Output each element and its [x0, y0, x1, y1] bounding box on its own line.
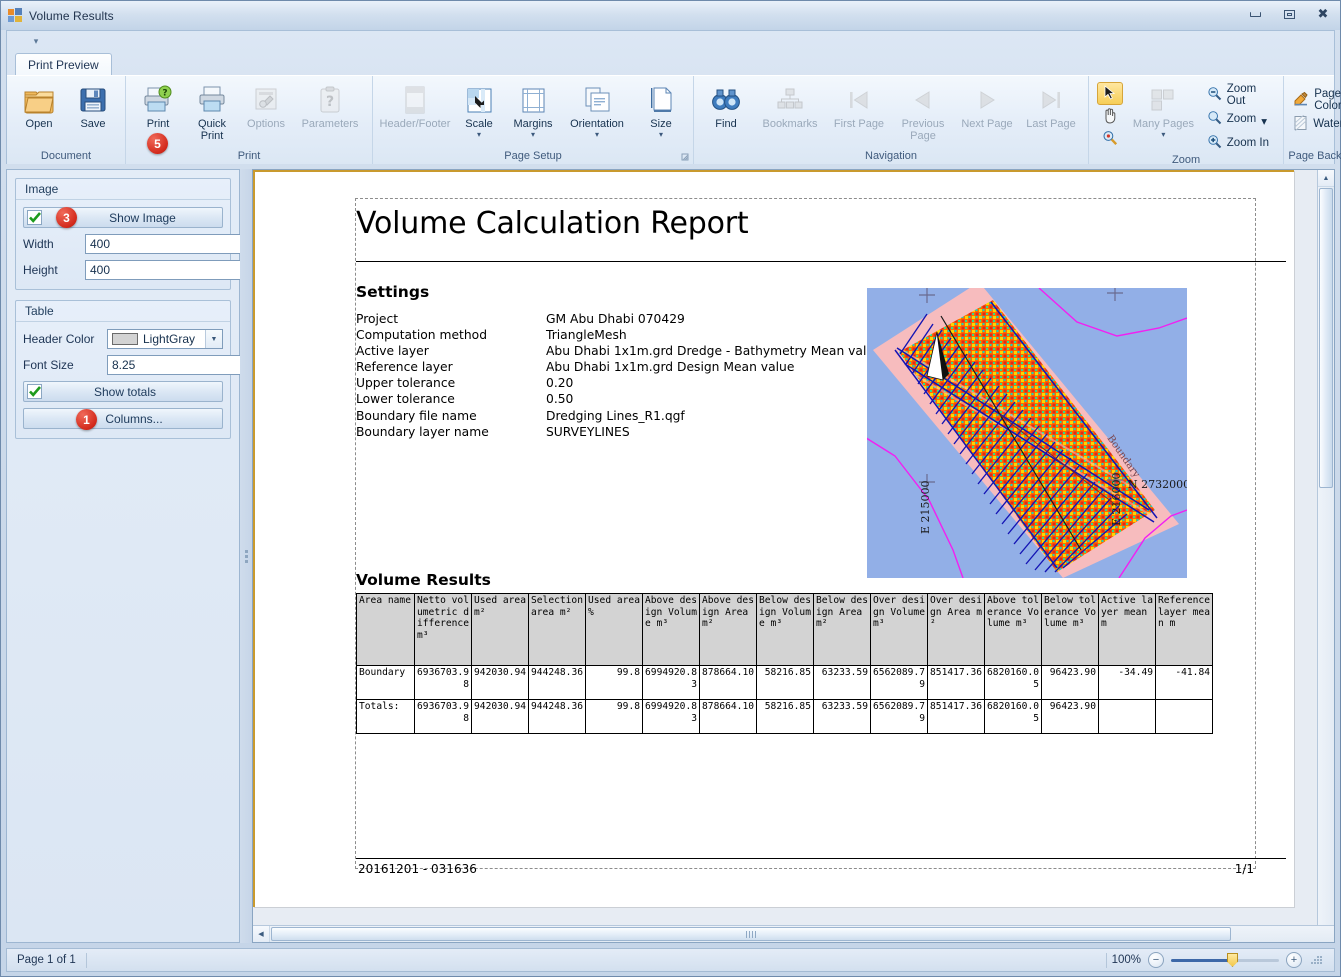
orientation-icon — [583, 83, 612, 117]
pointer-tool-button[interactable] — [1097, 82, 1123, 105]
column-header: Selection area m² — [529, 594, 586, 666]
value-cell: 6820160.05 — [985, 666, 1042, 700]
zoom-out-button[interactable]: − — [1148, 952, 1164, 968]
ribbon: ▾ Print Preview — [6, 30, 1335, 164]
settings-sidebar: Image 3 Show Image Width ▲▼ — [6, 169, 240, 943]
settings-row: Reference layerAbu Dhabi 1x1m.grd Design… — [356, 360, 882, 376]
value-cell — [1156, 700, 1213, 734]
value-cell: -34.49 — [1099, 666, 1156, 700]
image-group-title: Image — [16, 179, 230, 200]
resize-grip-icon[interactable] — [1309, 953, 1323, 967]
parameters-label: Parameters — [302, 118, 359, 130]
options-button: Options — [240, 81, 292, 130]
ribbon-tabstrip: Print Preview — [7, 52, 1334, 75]
zoom-out-button[interactable]: Zoom Out — [1204, 84, 1277, 106]
find-button[interactable]: Find — [700, 81, 752, 130]
save-button[interactable]: Save — [67, 81, 119, 130]
checkbox-checked-icon — [27, 384, 42, 399]
orientation-label: Orientation — [570, 118, 624, 130]
margins-icon — [520, 83, 547, 117]
group-title-page-background: Page Background — [1284, 147, 1341, 164]
image-width-field[interactable]: ▲▼ — [85, 234, 266, 254]
map-label-n2732000: N 2732000 — [1128, 478, 1187, 491]
column-header: Below tolerance Volume m³ — [1042, 594, 1099, 666]
column-header: Used area % — [586, 594, 643, 666]
zoom-icon — [1207, 110, 1222, 128]
value-cell: 942030.94 — [472, 666, 529, 700]
open-button[interactable]: Open — [13, 81, 65, 130]
column-header: Below design Area m² — [814, 594, 871, 666]
font-size-row: Font Size ▲▼ — [23, 355, 223, 375]
thumb-grip-icon — [746, 931, 756, 938]
settings-value: 0.20 — [546, 376, 882, 392]
settings-key: Project — [356, 312, 546, 328]
value-cell: 6994920.83 — [643, 700, 700, 734]
horizontal-scroll-thumb[interactable] — [271, 927, 1231, 941]
value-cell: 6820160.05 — [985, 700, 1042, 734]
settings-row: Boundary file nameDredging Lines_R1.qgf — [356, 409, 882, 425]
value-cell: 851417.36 — [928, 700, 985, 734]
first-page-button: First Page — [828, 81, 890, 130]
previous-page-label: Previous Page — [895, 118, 951, 142]
settings-value: SURVEYLINES — [546, 425, 882, 441]
table-groupbox: Table Header Color LightGray ▼ Font Size — [15, 300, 231, 439]
value-cell: 851417.36 — [928, 666, 985, 700]
column-header: Used area m² — [472, 594, 529, 666]
ribbon-group-page-setup: Header/Footer — [373, 76, 694, 164]
column-header: Active layer mean m — [1099, 594, 1156, 666]
quick-access-dropdown-icon[interactable]: ▾ — [29, 35, 43, 49]
options-wrench-icon — [252, 83, 280, 117]
next-page-button: Next Page — [956, 81, 1018, 130]
show-image-label: Show Image — [77, 211, 222, 225]
maximize-button[interactable] — [1276, 5, 1302, 24]
value-cell: 944248.36 — [529, 666, 586, 700]
image-groupbox: Image 3 Show Image Width ▲▼ — [15, 178, 231, 290]
volume-results-table: Area name Netto volumetric difference m³… — [356, 593, 1213, 734]
image-width-row: Width ▲▼ — [23, 234, 223, 254]
scale-label: Scale — [465, 118, 493, 130]
group-title-navigation: Navigation — [694, 147, 1088, 164]
survey-coverage-map: E 215000 E 216000 N 2732000 Boundary — [867, 288, 1187, 578]
svg-text:?: ? — [162, 88, 167, 98]
settings-key: Reference layer — [356, 360, 546, 376]
page-color-button[interactable]: Page Color ▾ — [1290, 89, 1341, 111]
svg-text:?: ? — [326, 94, 334, 110]
chevron-down-icon[interactable]: ▾ — [659, 131, 663, 138]
table-row: Boundary 6936703.98 942030.94 944248.36 … — [357, 666, 1213, 700]
settings-key: Computation method — [356, 328, 546, 344]
value-cell: 63233.59 — [814, 700, 871, 734]
column-header: Over design Area m² — [928, 594, 985, 666]
settings-key: Boundary layer name — [356, 425, 546, 441]
callout-badge-3: 3 — [56, 207, 77, 228]
quick-print-button[interactable]: Quick Print — [186, 81, 238, 142]
parameters-clipboard-icon: ? — [317, 83, 343, 117]
page-background-commands: Page Color ▾ Watermark — [1290, 81, 1341, 135]
image-height-row: Height ▲▼ — [23, 260, 223, 280]
group-title-page-setup: Page Setup — [373, 147, 693, 164]
value-cell: 944248.36 — [529, 700, 586, 734]
many-pages-label: Many Pages — [1133, 118, 1194, 130]
value-cell: 6562089.79 — [871, 666, 928, 700]
zoom-out-label: Zoom Out — [1227, 83, 1272, 107]
zoom-commands: Zoom Out Zoom ▾ — [1204, 81, 1277, 154]
last-page-icon — [1038, 83, 1064, 117]
value-cell: 96423.90 — [1042, 666, 1099, 700]
chevron-down-icon[interactable]: ▾ — [595, 131, 599, 138]
settings-value: Abu Dhabi 1x1m.grd Design Mean value — [546, 360, 882, 376]
column-header: Area name — [357, 594, 415, 666]
value-cell: 878664.10 — [700, 666, 757, 700]
last-page-label: Last Page — [1026, 118, 1076, 130]
show-image-toggle[interactable]: 3 Show Image — [23, 207, 223, 228]
header-footer-label: Header/Footer — [380, 118, 451, 130]
columns-button[interactable]: 1 Columns... — [23, 408, 223, 429]
header-footer-button: Header/Footer — [379, 81, 451, 130]
header-footer-icon — [402, 83, 428, 117]
area-name-cell: Boundary — [357, 666, 415, 700]
value-cell: 942030.94 — [472, 700, 529, 734]
main-area: Image 3 Show Image Width ▲▼ — [1, 164, 1340, 948]
column-header: Netto volumetric difference m³ — [415, 594, 472, 666]
column-header: Over design Volume m³ — [871, 594, 928, 666]
footer-page-number: 1/1 — [1235, 862, 1254, 876]
settings-row: Upper tolerance0.20 — [356, 376, 882, 392]
page-color-label: Page Color — [1314, 88, 1341, 112]
map-label-e215000: E 215000 — [919, 480, 932, 534]
settings-value: Abu Dhabi 1x1m.grd Dredge - Bathymetry M… — [546, 344, 882, 360]
maximize-icon — [1284, 10, 1295, 19]
callout-badge-5: 5 — [147, 133, 168, 154]
show-totals-toggle[interactable]: Show totals — [23, 381, 223, 402]
parameters-button: ? Parameters — [294, 81, 366, 130]
watermark-icon — [1293, 115, 1308, 134]
magnifier-tool-button[interactable] — [1097, 129, 1123, 149]
chevron-down-icon[interactable]: ▾ — [1261, 114, 1267, 128]
preview-horizontal-scrollbar[interactable]: ◀ — [253, 925, 1334, 942]
ribbon-group-navigation: Find Bookmarks — [694, 76, 1089, 164]
window-title: Volume Results — [29, 9, 114, 23]
zoom-percent-label: 100% — [1107, 954, 1141, 966]
zoom-label: Zoom — [1227, 113, 1256, 125]
zoom-in-button[interactable]: Zoom In — [1204, 132, 1277, 154]
report-page: Volume Calculation Report Settings Proje… — [253, 170, 1294, 907]
window-controls: ✖ — [1242, 5, 1336, 24]
scroll-up-button[interactable]: ▲ — [1318, 170, 1334, 187]
title-rule — [356, 261, 1286, 262]
close-icon: ✖ — [1318, 8, 1329, 21]
page-setup-dialog-launcher-icon[interactable] — [681, 153, 690, 162]
column-header: Above design Area m² — [700, 594, 757, 666]
settings-value: GM Abu Dhabi 070429 — [546, 312, 882, 328]
tab-label: Print Preview — [28, 58, 99, 72]
value-cell: 99.8 — [586, 666, 643, 700]
results-heading: Volume Results — [356, 571, 491, 589]
bookmarks-label: Bookmarks — [762, 118, 817, 130]
minimize-button[interactable] — [1242, 5, 1268, 24]
mouse-pointer-icon — [1104, 85, 1117, 103]
watermark-button[interactable]: Watermark — [1290, 113, 1341, 135]
scroll-left-button[interactable]: ◀ — [253, 926, 270, 942]
ribbon-group-zoom: Many Pages ▾ Zoom Out — [1089, 76, 1284, 164]
column-header: Reference layer mean m — [1156, 594, 1213, 666]
many-pages-button: Many Pages ▾ — [1127, 81, 1200, 138]
value-cell — [1099, 700, 1156, 734]
vertical-scroll-thumb[interactable] — [1319, 188, 1333, 488]
title-bar: Volume Results ✖ — [1, 1, 1340, 30]
page-indicator: Page 1 of 1 — [7, 949, 86, 971]
size-label: Size — [650, 118, 671, 130]
value-cell: 6936703.98 — [415, 666, 472, 700]
value-cell: 96423.90 — [1042, 700, 1099, 734]
save-floppy-icon — [79, 83, 107, 117]
open-folder-icon — [23, 83, 55, 117]
settings-row: ProjectGM Abu Dhabi 070429 — [356, 312, 882, 328]
previous-page-button: Previous Page — [892, 81, 954, 142]
previous-page-icon — [910, 83, 936, 117]
last-page-button: Last Page — [1020, 81, 1082, 130]
hand-pan-icon — [1102, 107, 1118, 127]
slider-track — [1171, 959, 1279, 962]
ribbon-group-page-background: Page Color ▾ Watermark Page Background — [1284, 76, 1341, 164]
bookmarks-button: Bookmarks — [754, 81, 826, 130]
zoom-in-label: Zoom In — [1227, 137, 1269, 149]
chevron-down-icon: ▾ — [1161, 131, 1165, 138]
orientation-button[interactable]: Orientation ▾ — [561, 81, 633, 138]
minimize-icon — [1250, 12, 1261, 17]
print-preview-pane: Volume Calculation Report Settings Proje… — [252, 169, 1335, 943]
value-cell: 878664.10 — [700, 700, 757, 734]
settings-key: Active layer — [356, 344, 546, 360]
zoom-in-button[interactable]: + — [1286, 952, 1302, 968]
group-title-document: Document — [7, 147, 125, 164]
ribbon-group-document: Open Sav — [7, 76, 126, 164]
settings-value: TriangleMesh — [546, 328, 882, 344]
footer-rule — [356, 858, 1286, 859]
paper-size-icon — [648, 83, 675, 117]
find-label: Find — [715, 118, 736, 130]
print-button[interactable]: ? Print 5 — [132, 81, 184, 130]
options-label: Options — [247, 118, 285, 130]
zoom-out-icon — [1207, 86, 1222, 104]
value-cell: 6562089.79 — [871, 700, 928, 734]
group-title-text: Page Setup — [504, 150, 562, 162]
next-page-label: Next Page — [961, 118, 1012, 130]
image-width-label: Width — [23, 237, 79, 251]
header-color-value: LightGray — [143, 332, 205, 346]
scale-button[interactable]: Scale ▾ — [453, 81, 505, 138]
ribbon-group-print: ? Print 5 — [126, 76, 373, 164]
watermark-label: Watermark — [1313, 118, 1341, 130]
map-label-e216000: E 216000 — [1110, 472, 1123, 526]
group-title-zoom: Zoom — [1089, 154, 1283, 166]
many-pages-icon — [1149, 83, 1177, 117]
value-cell: 58216.85 — [757, 700, 814, 734]
settings-row: Active layerAbu Dhabi 1x1m.grd Dredge - … — [356, 344, 882, 360]
image-height-label: Height — [23, 263, 79, 277]
value-cell: 6994920.83 — [643, 666, 700, 700]
header-color-combobox[interactable]: LightGray ▼ — [107, 329, 223, 349]
save-label: Save — [80, 118, 105, 130]
area-name-cell: Totals: — [357, 700, 415, 734]
size-button[interactable]: Size ▾ — [635, 81, 687, 138]
settings-table: ProjectGM Abu Dhabi 070429 Computation m… — [356, 312, 882, 441]
zoom-in-icon — [1207, 134, 1222, 152]
column-header: Below design Volume m³ — [757, 594, 814, 666]
status-divider — [86, 953, 87, 968]
page-color-icon — [1293, 91, 1309, 110]
app-grid-icon — [8, 8, 23, 23]
value-cell: -41.84 — [1156, 666, 1213, 700]
settings-heading: Settings — [356, 283, 429, 301]
settings-key: Lower tolerance — [356, 392, 546, 408]
settings-value: Dredging Lines_R1.qgf — [546, 409, 882, 425]
horizontal-scroll-track[interactable] — [270, 926, 1334, 942]
column-header: Above design Volume m³ — [643, 594, 700, 666]
tab-print-preview[interactable]: Print Preview — [15, 53, 112, 75]
print-help-icon: ? — [142, 83, 174, 117]
slider-thumb[interactable] — [1227, 953, 1238, 967]
settings-row: Boundary layer nameSURVEYLINES — [356, 425, 882, 441]
value-cell: 63233.59 — [814, 666, 871, 700]
open-label: Open — [26, 118, 53, 130]
margins-label: Margins — [513, 118, 552, 130]
checkbox-checked-icon — [27, 210, 42, 225]
sidebar-splitter[interactable] — [240, 169, 252, 943]
table-row: Totals: 6936703.98 942030.94 944248.36 9… — [357, 700, 1213, 734]
chevron-down-icon[interactable]: ▾ — [531, 131, 535, 138]
settings-row: Computation methodTriangleMesh — [356, 328, 882, 344]
status-bar: Page 1 of 1 100% − + — [6, 948, 1335, 972]
callout-badge-1: 1 — [76, 409, 97, 430]
settings-key: Upper tolerance — [356, 376, 546, 392]
hand-tool-button[interactable] — [1097, 106, 1123, 128]
first-page-icon — [846, 83, 872, 117]
print-label: Print — [147, 118, 170, 130]
zoom-button[interactable]: Zoom ▾ — [1204, 108, 1277, 130]
next-page-icon — [974, 83, 1000, 117]
header-color-row: Header Color LightGray ▼ — [23, 329, 223, 349]
page-scroll-area[interactable]: Volume Calculation Report Settings Proje… — [253, 170, 1317, 925]
value-cell: 99.8 — [586, 700, 643, 734]
quick-print-icon — [197, 83, 227, 117]
magnifier-tool-icon — [1102, 130, 1118, 149]
preview-vertical-scrollbar[interactable]: ▲ — [1317, 170, 1334, 925]
table-group-title: Table — [16, 301, 230, 322]
zoom-widget: 100% − + — [1107, 952, 1334, 968]
value-cell: 58216.85 — [757, 666, 814, 700]
quick-access-toolbar: ▾ — [7, 31, 1334, 52]
close-button[interactable]: ✖ — [1310, 5, 1336, 24]
image-height-field[interactable]: ▲▼ — [85, 260, 266, 280]
app-window: Volume Results ✖ ▾ Print Preview — [0, 0, 1341, 977]
chevron-down-icon[interactable]: ▾ — [477, 131, 481, 138]
image-height-input[interactable] — [86, 261, 249, 279]
find-binoculars-icon — [711, 83, 741, 117]
page-title: Volume Calculation Report — [356, 206, 748, 241]
settings-row: Lower tolerance0.50 — [356, 392, 882, 408]
scale-arrow-icon — [466, 83, 493, 117]
first-page-label: First Page — [834, 118, 884, 130]
ribbon-content: Open Sav — [7, 75, 1334, 164]
footer-timestamp: 20161201 - 031636 — [358, 862, 477, 876]
splitter-grip-icon — [245, 550, 248, 563]
quick-print-label: Quick Print — [189, 118, 235, 142]
bookmarks-tree-icon — [776, 83, 804, 117]
color-swatch — [112, 333, 138, 345]
settings-key: Boundary file name — [356, 409, 546, 425]
image-width-input[interactable] — [86, 235, 249, 253]
show-totals-label: Show totals — [42, 385, 222, 399]
value-cell: 6936703.98 — [415, 700, 472, 734]
settings-value: 0.50 — [546, 392, 882, 408]
margins-button[interactable]: Margins ▾ — [507, 81, 559, 138]
header-color-label: Header Color — [23, 332, 101, 346]
table-header-row: Area name Netto volumetric difference m³… — [357, 594, 1213, 666]
font-size-label: Font Size — [23, 358, 101, 372]
zoom-slider[interactable] — [1171, 953, 1279, 967]
column-header: Above tolerance Volume m³ — [985, 594, 1042, 666]
chevron-down-icon[interactable]: ▼ — [205, 330, 222, 348]
